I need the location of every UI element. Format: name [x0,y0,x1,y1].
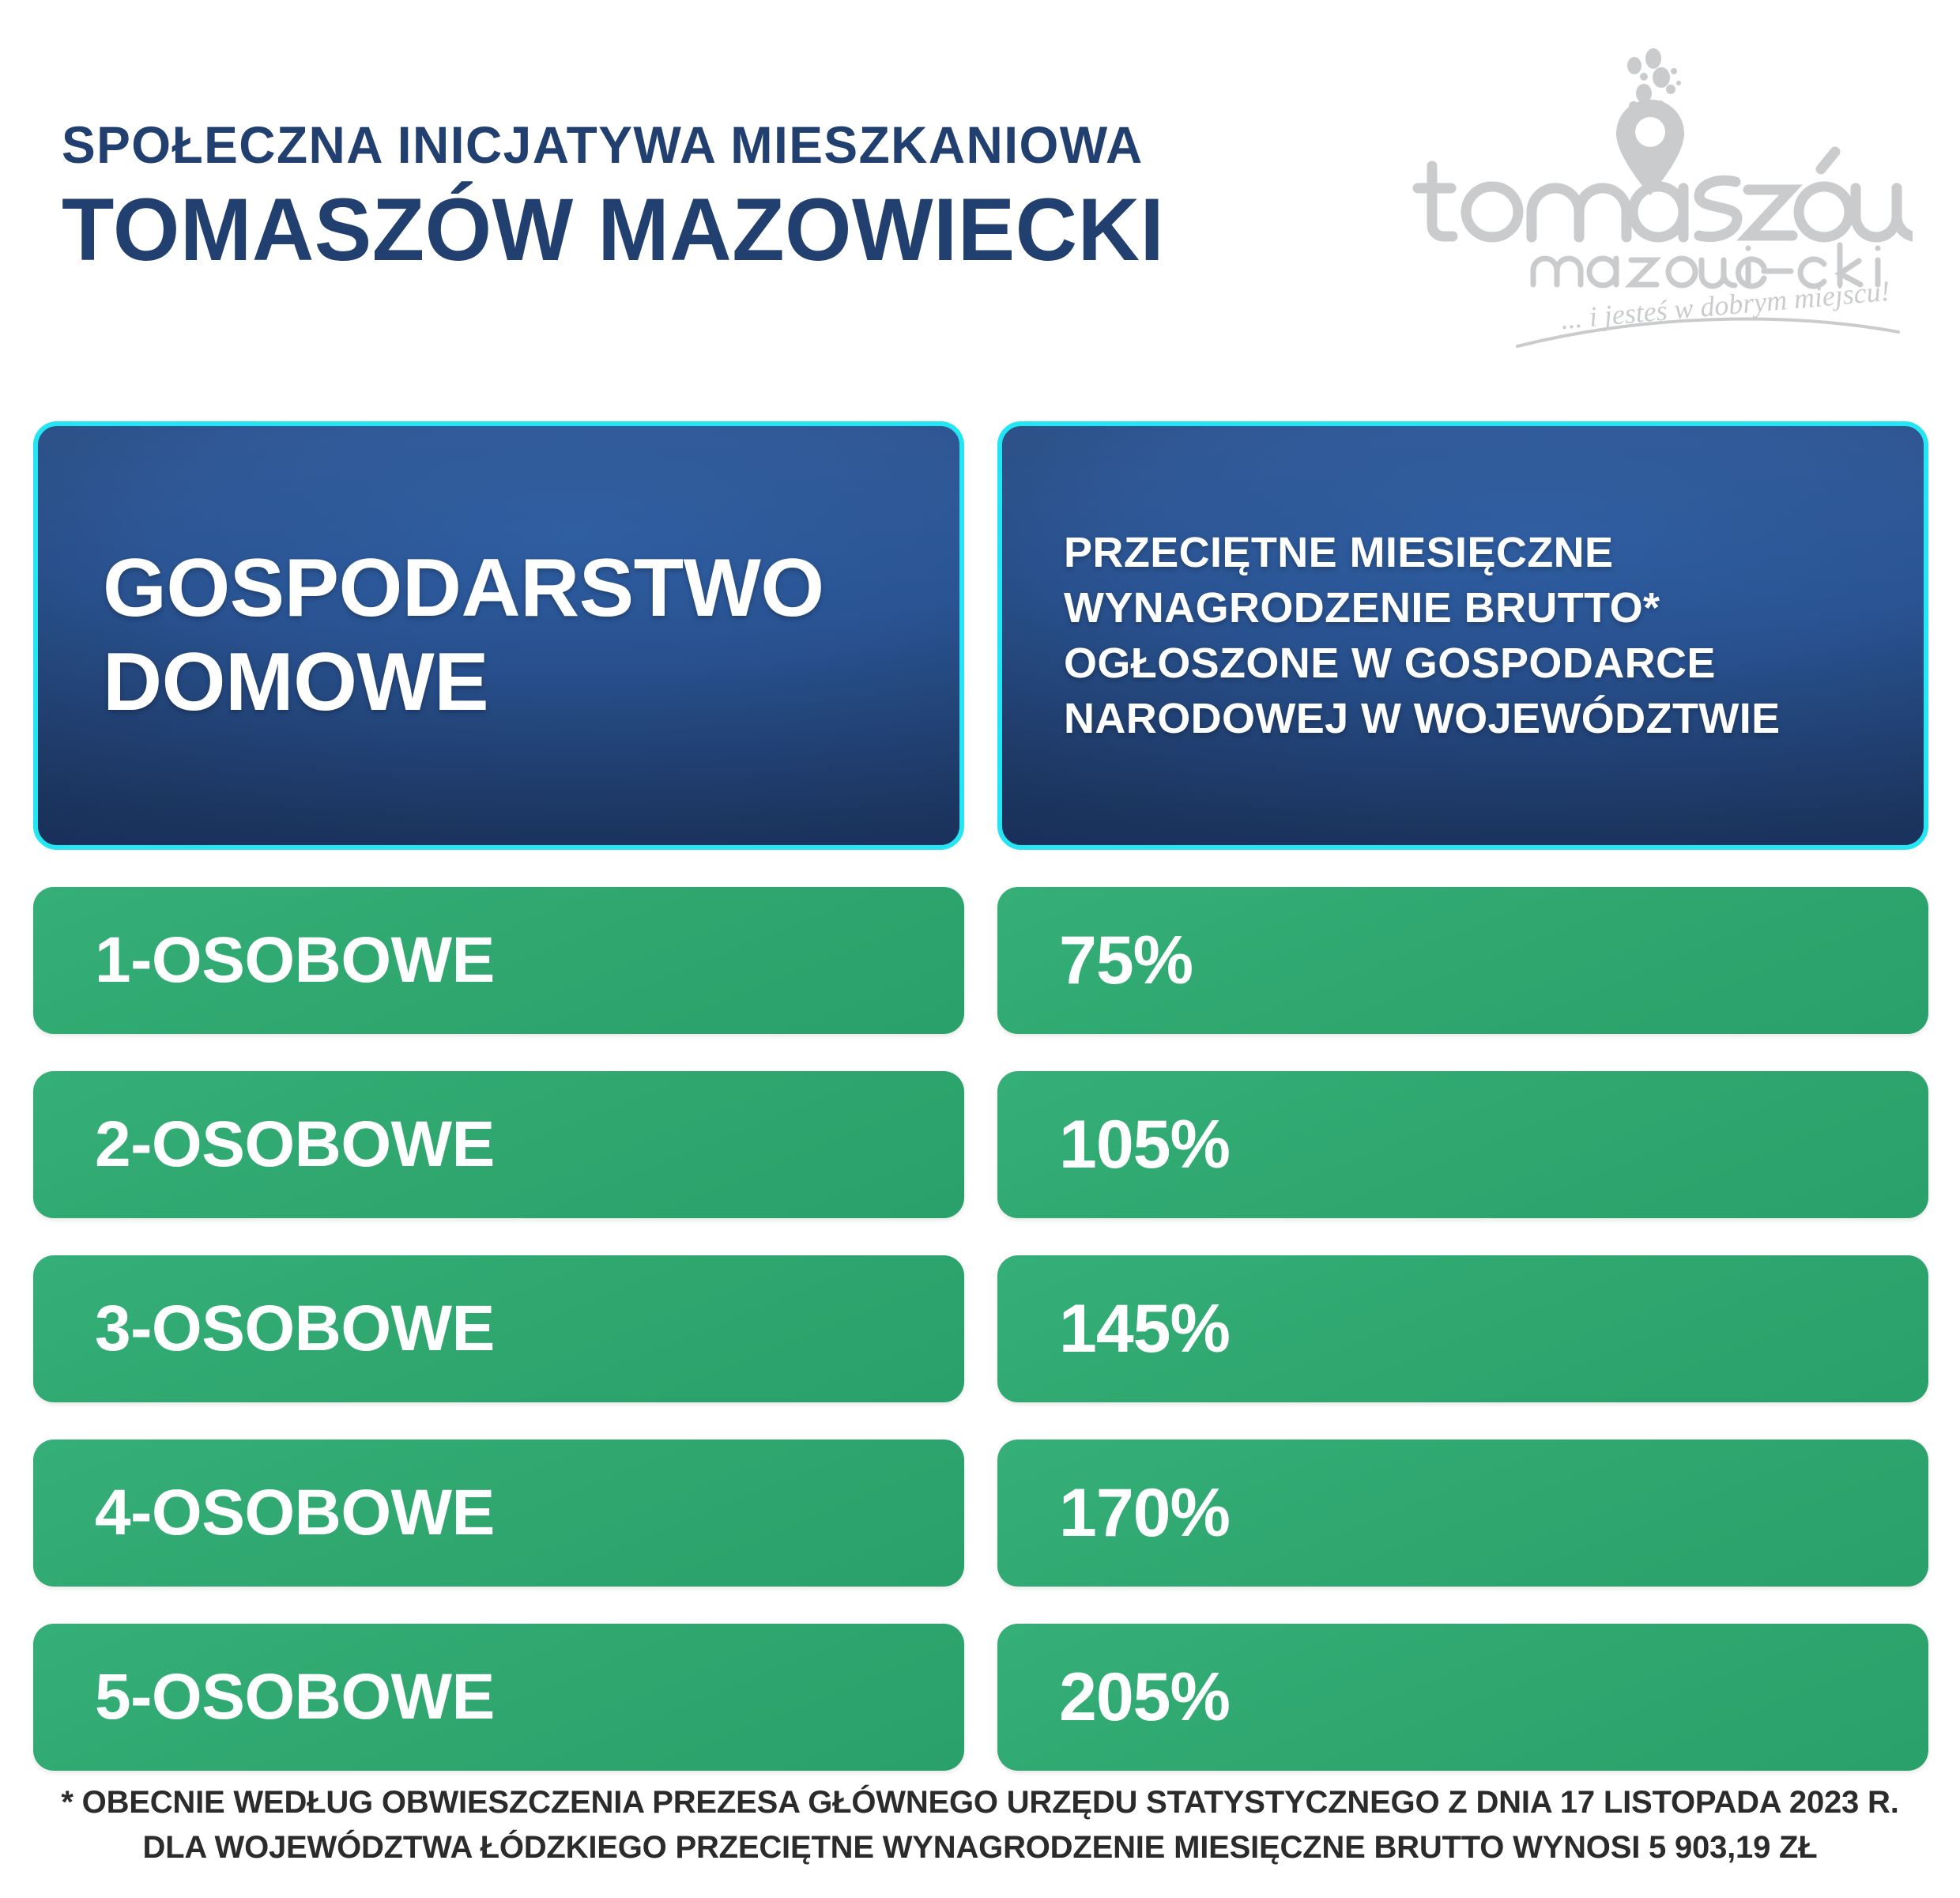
salary-header-line-3: OGŁOSZONE W GOSPODARCE [1064,636,1781,691]
household-card-1: 1-OSOBOWE [33,887,964,1034]
household-card-5: 5-OSOBOWE [33,1624,964,1771]
percent-value-3: 145% [997,1295,1230,1363]
percent-value-5: 205% [997,1663,1230,1731]
table-row: 4-OSOBOWE 170% [33,1440,1928,1587]
table-row: 1-OSOBOWE 75% [33,887,1928,1034]
cell-percent-4: 170% [997,1440,1928,1587]
footnote-line-1: * OBECNIE WEDŁUG OBWIESZCZENIA PREZESA G… [0,1780,1960,1825]
cell-percent-5: 205% [997,1624,1928,1771]
page-title: TOMASZÓW MAZOWIECKI [62,186,1303,274]
percent-value-1: 75% [997,926,1193,994]
cell-percent-2: 105% [997,1071,1928,1218]
title-block: SPOŁECZNA INICJATYWA MIESZKANIOWA TOMASZ… [62,119,1342,274]
percent-value-4: 170% [997,1479,1230,1547]
cell-left-header: GOSPODARSTWO DOMOWE [33,421,964,850]
footnote: * OBECNIE WEDŁUG OBWIESZCZENIA PREZESA G… [0,1780,1960,1870]
comparison-grid: GOSPODARSTWO DOMOWE PRZECIĘTNE MIESIĘCZN… [33,421,1928,1771]
cell-household-3: 3-OSOBOWE [33,1255,964,1402]
cell-household-2: 2-OSOBOWE [33,1071,964,1218]
salary-header-line-1: PRZECIĘTNE MIESIĘCZNE [1064,525,1781,580]
household-header-card: GOSPODARSTWO DOMOWE [33,421,964,850]
percent-card-2: 105% [997,1071,1928,1218]
household-label-3: 3-OSOBOWE [33,1296,495,1361]
cell-household-4: 4-OSOBOWE [33,1440,964,1587]
infographic-poster: SPOŁECZNA INICJATYWA MIESZKANIOWA TOMASZ… [0,0,1960,1898]
cell-household-5: 5-OSOBOWE [33,1624,964,1771]
percent-card-3: 145% [997,1255,1928,1402]
percent-card-1: 75% [997,887,1928,1034]
table-row: 5-OSOBOWE 205% [33,1624,1928,1771]
table-row: 3-OSOBOWE 145% [33,1255,1928,1402]
footnote-line-2: DLA WOJEWÓDZTWA ŁÓDZKIEGO PRZECIĘTNE WYN… [0,1825,1960,1870]
table-row: 2-OSOBOWE 105% [33,1071,1928,1218]
header-kicker: SPOŁECZNA INICJATYWA MIESZKANIOWA [62,119,1303,172]
household-card-3: 3-OSOBOWE [33,1255,964,1402]
cell-percent-1: 75% [997,887,1928,1034]
cell-household-1: 1-OSOBOWE [33,887,964,1034]
salary-header-label: PRZECIĘTNE MIESIĘCZNE WYNAGRODZENIE BRUT… [1002,525,1809,747]
cell-right-header: PRZECIĘTNE MIESIĘCZNE WYNAGRODZENIE BRUT… [997,421,1928,850]
household-header-label: GOSPODARSTWO DOMOWE [38,541,959,729]
household-card-2: 2-OSOBOWE [33,1071,964,1218]
household-label-5: 5-OSOBOWE [33,1665,495,1730]
percent-card-4: 170% [997,1440,1928,1587]
household-label-4: 4-OSOBOWE [33,1481,495,1545]
salary-header-line-4: NARODOWEJ W WOJEWÓDZTWIE [1064,691,1781,746]
household-label-1: 1-OSOBOWE [33,928,495,993]
cell-percent-3: 145% [997,1255,1928,1402]
tomaszow-logo: ... i jesteś w dobrym miejscu! [1407,33,1913,349]
salary-header-line-2: WYNAGRODZENIE BRUTTO* [1064,580,1781,636]
percent-card-5: 205% [997,1624,1928,1771]
grid-header-row: GOSPODARSTWO DOMOWE PRZECIĘTNE MIESIĘCZN… [33,421,1928,850]
poster-header: SPOŁECZNA INICJATYWA MIESZKANIOWA TOMASZ… [0,0,1960,395]
household-card-4: 4-OSOBOWE [33,1440,964,1587]
household-label-2: 2-OSOBOWE [33,1112,495,1177]
percent-value-2: 105% [997,1111,1230,1179]
salary-header-card: PRZECIĘTNE MIESIĘCZNE WYNAGRODZENIE BRUT… [997,421,1928,850]
